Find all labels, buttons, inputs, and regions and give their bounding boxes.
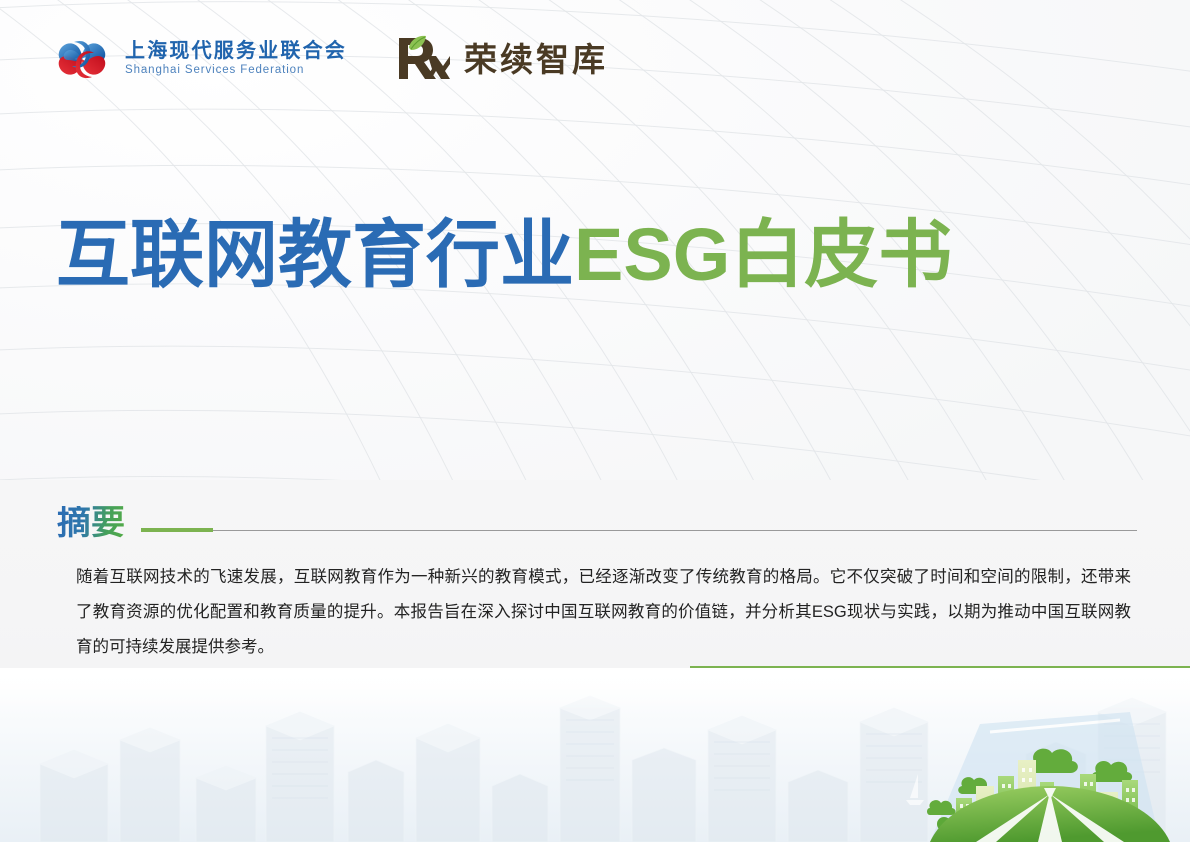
logo-rongxu-think-tank: 荣续智库 — [395, 34, 608, 84]
abstract-rule-grey — [213, 530, 1137, 531]
infinity-knot-icon — [52, 36, 114, 83]
page-title: 互联网教育行业ESG白皮书 — [56, 214, 952, 297]
abstract-rule-green — [141, 528, 213, 532]
logo-bar: 上海现代服务业联合会 Shanghai Services Federation … — [52, 34, 608, 84]
rx-leaf-icon — [395, 34, 451, 84]
logo-ssf-chinese-name: 上海现代服务业联合会 — [125, 41, 347, 62]
logo-rx-chinese-name: 荣续智库 — [464, 43, 608, 76]
logo-ssf-text: 上海现代服务业联合会 Shanghai Services Federation — [125, 41, 347, 76]
abstract-heading: 摘要 — [57, 506, 125, 540]
isometric-green-city-globe-icon — [0, 668, 1190, 842]
cover-page: 上海现代服务业联合会 Shanghai Services Federation … — [0, 0, 1190, 842]
abstract-body: 随着互联网技术的飞速发展，互联网教育作为一种新兴的教育模式，已经逐渐改变了传统教… — [76, 560, 1131, 665]
page-title-chinese-part: 互联网教育行业 — [56, 213, 574, 296]
page-title-esg-part: ESG白皮书 — [574, 213, 952, 296]
footer-illustration — [0, 668, 1190, 842]
abstract-paragraph: 随着互联网技术的飞速发展，互联网教育作为一种新兴的教育模式，已经逐渐改变了传统教… — [76, 560, 1131, 665]
abstract-heading-rule — [141, 528, 1137, 532]
logo-ssf-english-name: Shanghai Services Federation — [125, 64, 347, 76]
abstract-heading-row: 摘要 — [57, 506, 1137, 540]
logo-shanghai-services-federation: 上海现代服务业联合会 Shanghai Services Federation — [52, 36, 347, 83]
